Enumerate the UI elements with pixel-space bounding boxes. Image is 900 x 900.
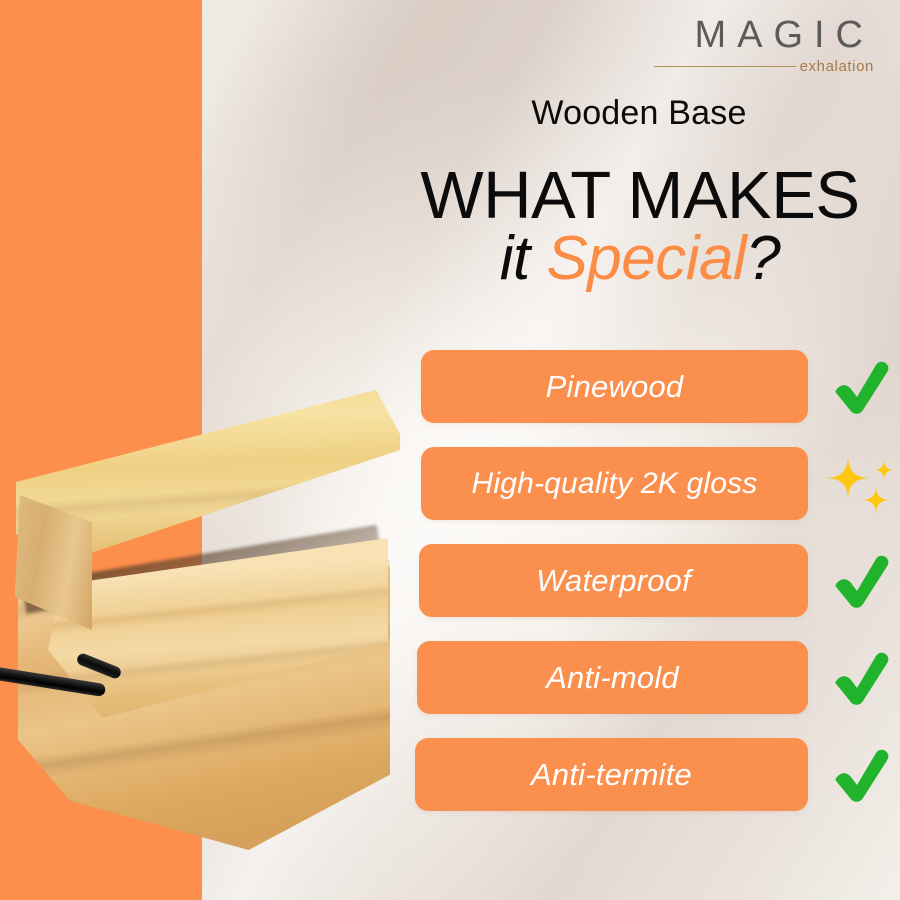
subtitle-suffix: ? xyxy=(746,224,780,293)
poster-canvas: MAGIC exhalation Wooden Base WHAT MAKES … xyxy=(0,0,900,900)
feature-label: Waterproof xyxy=(536,563,691,599)
feature-label: High-quality 2K gloss xyxy=(471,467,757,501)
check-icon xyxy=(822,738,900,811)
check-icon-svg xyxy=(831,552,893,610)
logo-divider-rule xyxy=(654,66,796,68)
feature-row: High-quality 2K gloss xyxy=(0,447,900,520)
brand-tagline: exhalation xyxy=(800,59,874,74)
feature-label: Pinewood xyxy=(546,369,684,405)
check-icon xyxy=(822,641,900,714)
feature-pill[interactable]: Anti-termite xyxy=(415,738,808,811)
check-icon-svg xyxy=(831,746,893,804)
subtitle-prefix: it xyxy=(500,224,547,293)
check-icon-svg xyxy=(831,649,893,707)
feature-pill[interactable]: Waterproof xyxy=(419,544,808,617)
feature-pill[interactable]: Anti-mold xyxy=(417,641,808,714)
check-icon-svg xyxy=(831,358,893,416)
page-kicker: Wooden Base xyxy=(404,94,874,133)
check-icon xyxy=(822,350,900,423)
sparkle-icon-svg xyxy=(823,448,900,520)
feature-label: Anti-termite xyxy=(531,757,692,793)
feature-label: Anti-mold xyxy=(546,660,679,696)
feature-row: Anti-termite xyxy=(0,738,900,811)
sparkle-icon xyxy=(822,447,900,520)
feature-list: PinewoodHigh-quality 2K glossWaterproofA… xyxy=(0,350,900,835)
page-subtitle: it Special? xyxy=(392,228,888,290)
feature-row: Anti-mold xyxy=(0,641,900,714)
brand-name: MAGIC xyxy=(654,16,874,54)
check-icon xyxy=(822,544,900,617)
brand-logo: MAGIC exhalation xyxy=(654,16,874,74)
page-title: WHAT MAKES xyxy=(392,162,888,230)
feature-row: Waterproof xyxy=(0,544,900,617)
feature-pill[interactable]: Pinewood xyxy=(421,350,808,423)
brand-tagline-row: exhalation xyxy=(654,59,874,74)
subtitle-accent: Special xyxy=(546,224,746,293)
feature-row: Pinewood xyxy=(0,350,900,423)
feature-pill[interactable]: High-quality 2K gloss xyxy=(421,447,808,520)
